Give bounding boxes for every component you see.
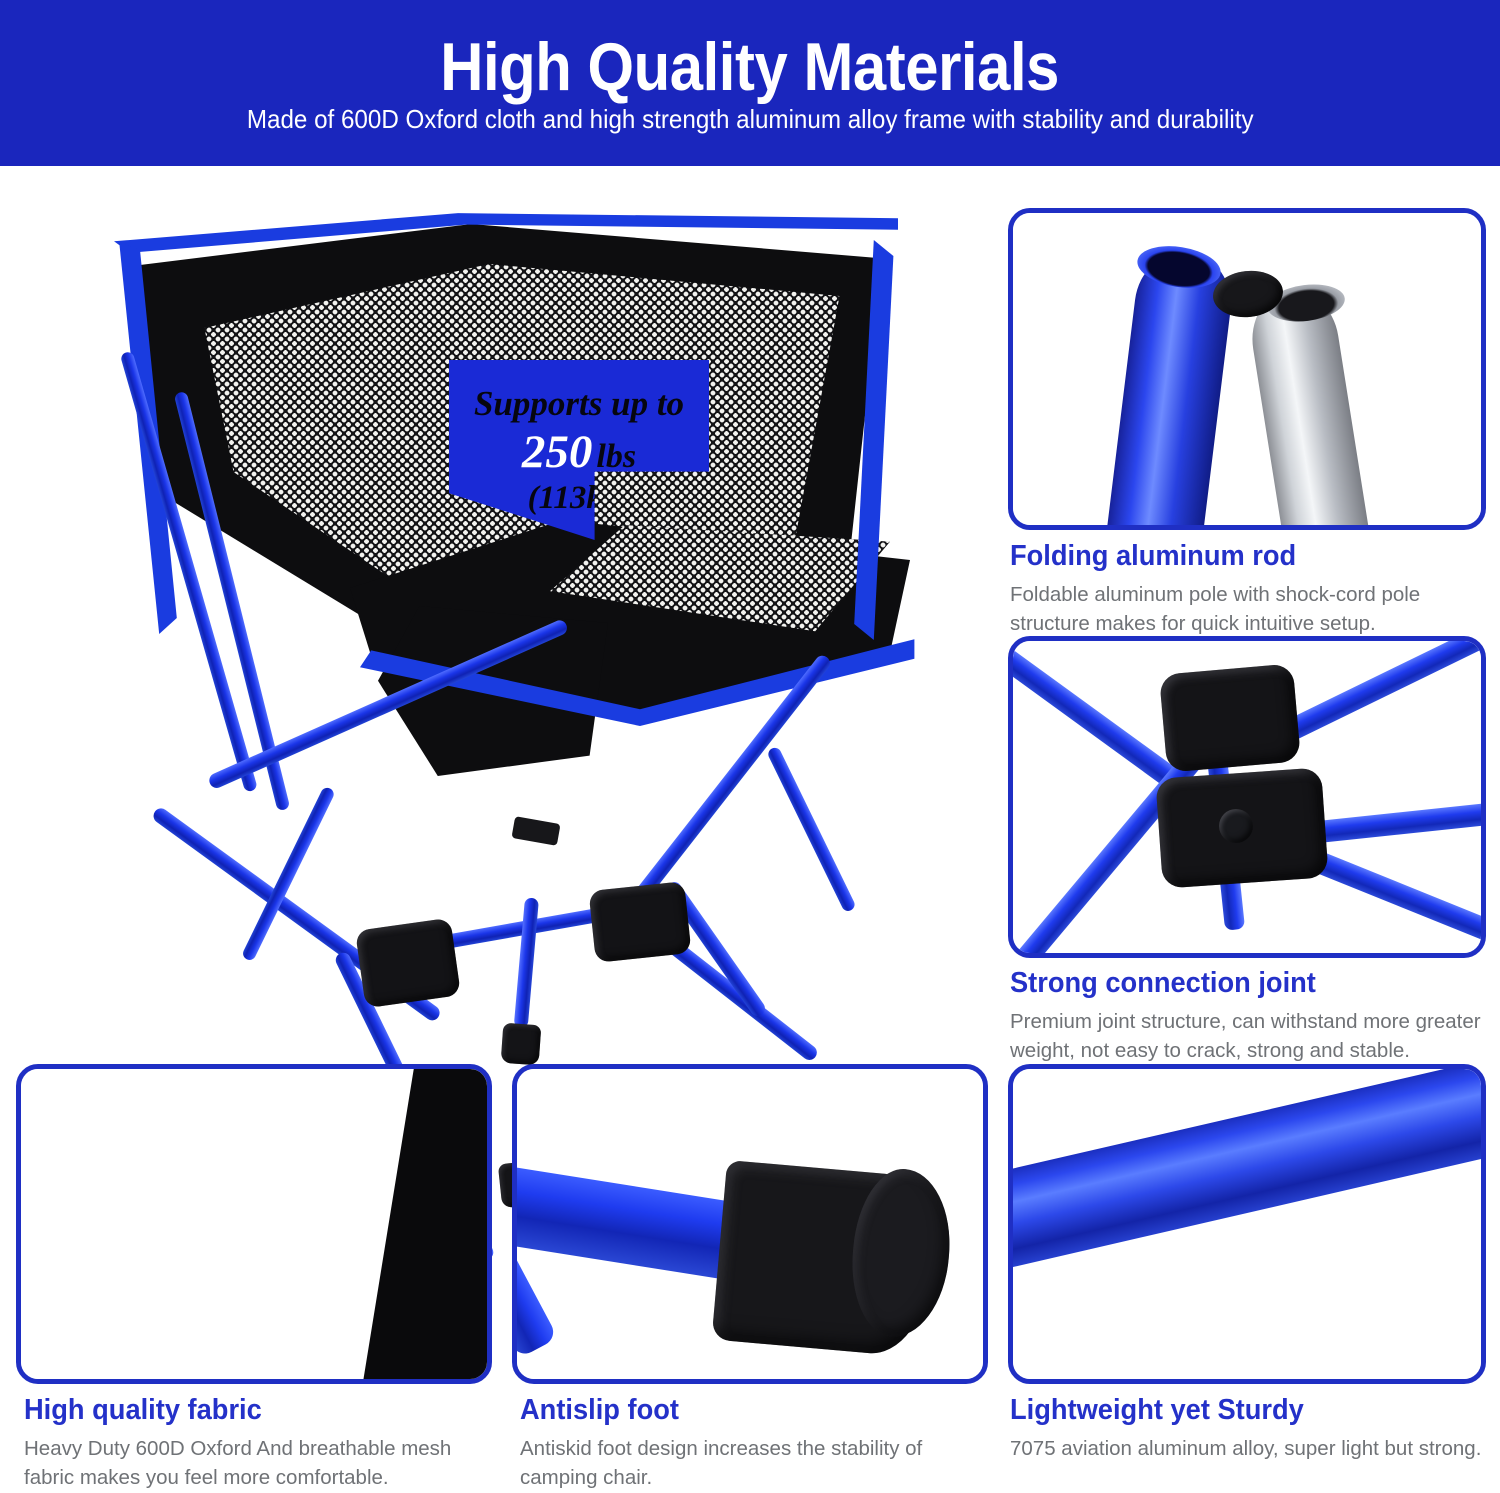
feature-body: Foldable aluminum pole with shock-cord p…	[1010, 580, 1486, 638]
folding-rod-photo	[1013, 213, 1481, 525]
feature-body: Heavy Duty 600D Oxford And breathable me…	[24, 1434, 494, 1492]
feature-panel-strong-connection-joint	[1008, 636, 1486, 958]
page-title: High Quality Materials	[441, 33, 1060, 101]
chair-zipper-pull	[511, 816, 560, 846]
page-subtitle: Made of 600D Oxford cloth and high stren…	[247, 105, 1254, 134]
feature-panel-folding-aluminum-rod	[1008, 208, 1486, 530]
caption-high-quality-fabric: High quality fabric Heavy Duty 600D Oxfo…	[24, 1394, 494, 1493]
feature-body: 7075 aviation aluminum alloy, super ligh…	[1010, 1434, 1486, 1463]
feature-title: Antislip foot	[520, 1394, 962, 1427]
header-banner: High Quality Materials Made of 600D Oxfo…	[0, 0, 1500, 166]
feature-panel-lightweight-yet-sturdy	[1008, 1064, 1486, 1384]
feature-body: Antiskid foot design increases the stabi…	[520, 1434, 990, 1492]
joint-hub-bolt-icon	[1219, 809, 1253, 843]
antislip-foot-photo	[517, 1069, 983, 1379]
feature-title: Folding aluminum rod	[1010, 540, 1457, 573]
chair-joint-hub-right	[588, 881, 691, 963]
badge-supports-label: Supports up to	[474, 386, 684, 421]
connection-joint-photo	[1013, 641, 1481, 953]
feature-title: Lightweight yet Sturdy	[1010, 1394, 1457, 1427]
feature-title: High quality fabric	[24, 1394, 466, 1427]
alloy-tube-icon	[1013, 1069, 1481, 1274]
feature-title: Strong connection joint	[1010, 967, 1457, 1000]
badge-weight-value: 250	[522, 429, 593, 476]
secondary-tube	[517, 1241, 558, 1359]
chair-foot-center	[501, 1023, 542, 1066]
hero-chair-image: Supports up to 250 lbs (113kg)	[30, 186, 960, 1048]
aluminum-alloy-tube-photo	[1013, 1069, 1481, 1379]
caption-antislip-foot: Antislip foot Antiskid foot design incre…	[520, 1394, 990, 1493]
caption-folding-aluminum-rod: Folding aluminum rod Foldable aluminum p…	[1010, 540, 1486, 639]
joint-hub-upper-icon	[1159, 663, 1301, 772]
badge-weight-row: 250 lbs	[522, 429, 636, 476]
feature-body: Premium joint structure, can withstand m…	[1010, 1007, 1486, 1065]
joint-pole-upper-right	[1270, 641, 1481, 748]
badge-weight-unit: lbs	[596, 440, 636, 474]
caption-lightweight-yet-sturdy: Lightweight yet Sturdy 7075 aviation alu…	[1010, 1394, 1486, 1463]
feature-panel-high-quality-fabric	[16, 1064, 492, 1384]
chair-leg-center-stub	[514, 897, 539, 1028]
chair-frame-right-rail	[766, 746, 857, 913]
feature-panel-antislip-foot	[512, 1064, 988, 1384]
chair-joint-hub-left	[355, 918, 461, 1009]
caption-strong-connection-joint: Strong connection joint Premium joint st…	[1010, 967, 1486, 1066]
